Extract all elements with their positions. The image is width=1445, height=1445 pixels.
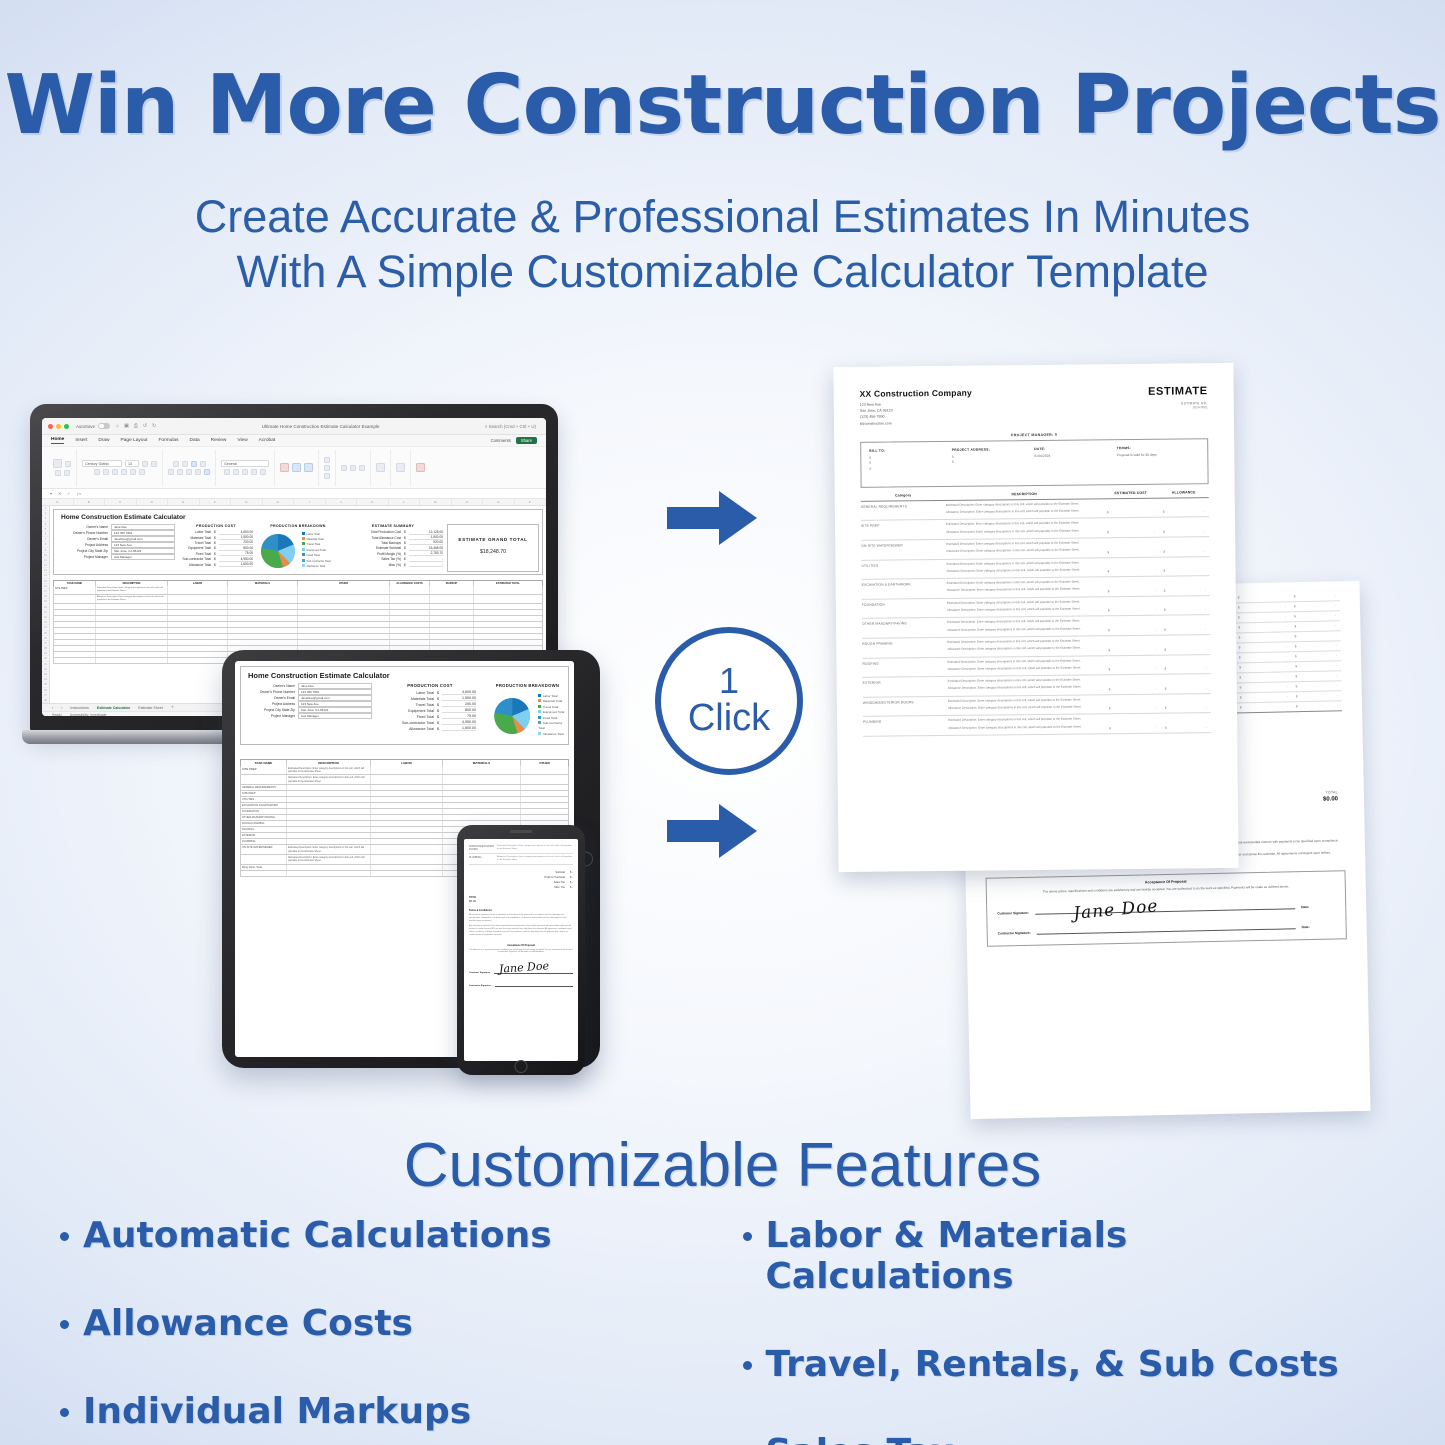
tab-review[interactable]: Review <box>211 438 227 443</box>
ribbon-group-acrobat[interactable] <box>411 450 430 486</box>
decrease-decimal-icon[interactable] <box>260 469 266 475</box>
allowance-cells[interactable] <box>390 586 430 594</box>
task-name-cell[interactable]: GENERAL REQUIREMENTS <box>241 785 287 790</box>
owner-field-input[interactable]: JaneDoe@gmail.com <box>111 536 175 542</box>
cost-symbol: $ <box>1295 654 1297 658</box>
estimated-description: Estimated Description: Enter category de… <box>947 579 1104 585</box>
production-cost-label: Travel Total <box>179 541 214 545</box>
task-name-cell[interactable]: Bring Parts, Tools <box>241 865 287 870</box>
phone-contractor-signature-line[interactable] <box>495 981 573 987</box>
owner-field-input[interactable]: San Jose, CA 95123 <box>298 707 372 713</box>
category-name: ROUGH FRAMING <box>862 640 947 655</box>
quick-access-toolbar[interactable]: ⌂ ▣ ⎙ ↺ ↻ <box>116 423 156 429</box>
markup-cells[interactable] <box>430 595 474 603</box>
align-middle-icon[interactable] <box>182 461 188 467</box>
cost-symbol: $ <box>1164 608 1166 612</box>
cost-dash: - <box>1285 614 1286 618</box>
row-headers[interactable]: 12 34 56 78 910 1112 1314 1516 1718 1920… <box>42 506 50 703</box>
underline-icon[interactable] <box>112 469 118 475</box>
accessibility-status[interactable]: Accessibility: Investigate <box>70 713 107 716</box>
minimize-icon[interactable] <box>56 424 61 429</box>
tablet-production-cost-panel: PRODUCTION COST Labor Total$4,600.00 Mat… <box>384 683 476 742</box>
category-name: EXTERIOR <box>863 679 948 694</box>
pie-legend: Labor Total Materials Total Travel Total… <box>302 532 331 570</box>
tab-formulas[interactable]: Formulas <box>158 438 178 443</box>
other-cells[interactable] <box>298 595 390 603</box>
table-row[interactable]: SITE PREP Estimated Description: Enter c… <box>240 766 569 776</box>
phone-misc-value: $ - <box>570 886 573 889</box>
grand-total-value: $18,248.70 <box>452 549 534 555</box>
summary-value[interactable]: - <box>409 557 443 562</box>
column-header[interactable]: M <box>420 499 452 505</box>
column-header[interactable]: C <box>105 499 137 505</box>
owner-info-table[interactable]: Owner's NameJane Doe Owner's Phone Numbe… <box>57 524 175 572</box>
owner-field-label: Owner's Email <box>57 537 111 541</box>
font-color-icon[interactable] <box>139 469 145 475</box>
owner-field-input[interactable]: Ava Manager <box>298 713 372 719</box>
column-header[interactable]: A <box>42 499 74 505</box>
other-cells[interactable] <box>298 586 390 594</box>
format-painter-icon[interactable] <box>64 470 70 476</box>
arrow-right-top-icon <box>665 487 759 549</box>
production-cost-value: 75.00 <box>219 551 253 556</box>
legend-item: Travel Total <box>543 705 558 709</box>
tab-page-layout[interactable]: Page Layout <box>121 438 148 443</box>
sheet-tab-instructions[interactable]: Instructions <box>70 706 88 710</box>
cost-symbol: $ <box>1163 569 1165 573</box>
column-header[interactable]: K <box>357 499 389 505</box>
owner-field-label: Project Manager <box>244 714 298 718</box>
summary-label: Sales Tax (%) <box>343 557 404 561</box>
owner-field-input[interactable]: 123 456 7891 <box>111 530 175 536</box>
company-address: 123 New Ave San Jose, CA 95123 (123) 456… <box>860 401 973 427</box>
align-center-icon[interactable] <box>177 469 183 475</box>
subheadline-line-2: With A Simple Customizable Calculator Te… <box>0 245 1445 300</box>
formula-bar[interactable]: ▾ ✕ ✓ ƒx <box>42 489 546 499</box>
column-header[interactable]: D <box>137 499 169 505</box>
italic-icon[interactable] <box>103 469 109 475</box>
task-name-cell[interactable] <box>241 775 287 784</box>
production-breakdown-title: PRODUCTION BREAKDOWN <box>490 683 565 688</box>
share-button[interactable]: Share <box>516 437 537 444</box>
cost-dash: - <box>1286 674 1287 678</box>
description-cell[interactable]: Estimated Description: Enter category de… <box>287 766 371 775</box>
cost-dash: - <box>1286 664 1287 668</box>
production-cost-value: 4,950.00 <box>219 557 253 562</box>
format-as-table-icon[interactable] <box>292 463 301 472</box>
find-select-icon[interactable] <box>359 465 365 471</box>
tablet-calculator-title: Home Construction Estimate Calculator <box>248 671 565 680</box>
paste-icon[interactable] <box>53 459 62 468</box>
customer-date-label: Date: <box>1301 904 1335 909</box>
estimate-summary-panel: ESTIMATE SUMMARY Total Production Cost$1… <box>343 524 443 572</box>
cost-symbol: $ <box>1294 614 1296 618</box>
ribbon-group-editing[interactable] <box>336 450 371 486</box>
cancel-entry-icon[interactable]: ✕ <box>58 491 61 496</box>
autosum-icon[interactable] <box>341 465 347 471</box>
estimated-total-cells[interactable] <box>474 595 542 603</box>
production-cost-label: Equipment Total <box>384 709 437 713</box>
category-name: EXCAVATION & EARTHWORK <box>862 581 947 596</box>
cost-symbol: $ <box>1109 726 1111 730</box>
summary-label: Misc (%) <box>343 563 404 567</box>
estimated-total-cells[interactable] <box>474 586 542 594</box>
task-name-cell[interactable]: PLUMBING <box>241 839 287 844</box>
cost-dash: - <box>1205 588 1206 592</box>
ribbon-group-number[interactable]: General <box>216 450 275 486</box>
column-header[interactable]: I <box>294 499 326 505</box>
date-label: DATE: <box>1034 446 1117 451</box>
production-cost-value: 1,500.00 <box>219 535 253 540</box>
ribbon-group-analyze[interactable] <box>391 450 411 486</box>
sheet-tab-estimate-calculator[interactable]: Estimate Calculator <box>97 706 131 710</box>
cost-symbol: $ <box>1108 569 1110 573</box>
phone-screen: WINDOWS/EXTERIOR DOORS Estimated Descrip… <box>464 839 578 1061</box>
allowance-description: Allowance Description: Enter category de… <box>948 665 1105 671</box>
owner-field-input[interactable]: 123 456 7891 <box>298 689 372 695</box>
ribbon-group-font[interactable]: Century Gothic 13 <box>77 450 163 486</box>
promo-canvas: Win More Construction Projects Create Ac… <box>0 0 1445 1445</box>
table-row[interactable]: SITE PREP Estimated Description: Enter c… <box>53 586 543 595</box>
font-name-select[interactable]: Century Gothic <box>82 460 122 467</box>
column-header[interactable]: F <box>200 499 232 505</box>
maximize-icon[interactable] <box>64 424 69 429</box>
cell-styles-icon[interactable] <box>304 463 313 472</box>
cost-dash: - <box>1287 704 1288 708</box>
cost-dash: - <box>1285 604 1286 608</box>
align-right-icon[interactable] <box>186 469 192 475</box>
production-cost-label: Materials Total <box>384 697 437 701</box>
cost-symbol: $ <box>1296 694 1298 698</box>
tablet-task-table-header: TASK NAME DESCRIPTION LABOR MATERIALS OT… <box>240 759 569 766</box>
feature-label: Allowance Costs <box>83 1303 413 1344</box>
description-cell[interactable]: Allowance Description: Enter category de… <box>287 775 371 784</box>
one-click-word: Click <box>688 699 770 739</box>
task-name-cell[interactable]: FOUNDATION <box>241 809 287 814</box>
cost-dash: - <box>1156 686 1157 690</box>
bill-to-label: BILL TO: <box>869 448 952 453</box>
column-header[interactable]: G <box>231 499 263 505</box>
date-column: DATE: 01/01/2024 <box>1034 446 1117 479</box>
ribbon-group-addins[interactable] <box>371 450 391 486</box>
contractor-signature-row[interactable]: Contractor Signature: Date: <box>998 920 1336 935</box>
phone-home-button[interactable] <box>515 1060 528 1073</box>
summary-label: Total Production Cost <box>343 530 404 534</box>
decrease-font-icon[interactable] <box>151 461 157 467</box>
confirm-entry-icon[interactable]: ✓ <box>67 491 70 496</box>
comments-button[interactable]: Comments <box>491 438 511 443</box>
summary-value[interactable]: - <box>409 562 443 567</box>
cost-dash: - <box>1154 569 1155 573</box>
cost-dash: - <box>1285 624 1286 628</box>
task-name-cell[interactable]: EXCAVATION & EARTHWORK <box>241 803 287 808</box>
table-row[interactable]: Allowance Description: Enter category de… <box>240 775 569 785</box>
row-header[interactable]: 38 <box>42 698 49 703</box>
other-cells[interactable] <box>521 775 568 784</box>
bold-icon[interactable] <box>94 469 100 475</box>
other-cells[interactable] <box>521 766 568 775</box>
category-rows: GENERAL REQUIREMENTS Estimated Descripti… <box>861 498 1211 737</box>
pie-legend: Labor Total Materials Total Travel Total… <box>538 694 565 737</box>
ribbon-group-paste[interactable] <box>48 450 77 486</box>
cost-symbol: $ <box>1164 628 1166 632</box>
currency-icon[interactable] <box>224 469 230 475</box>
tab-insert[interactable]: Insert <box>75 438 87 443</box>
list-item: Labor & Materials Calculations <box>743 1215 1386 1297</box>
cut-icon[interactable] <box>65 461 71 467</box>
labor-cells[interactable] <box>371 775 443 784</box>
autosave-toggle[interactable]: AutoSave <box>76 423 110 430</box>
column-header[interactable]: H <box>263 499 295 505</box>
production-cost-value: 1,500.00 <box>442 696 476 701</box>
summary-label: Total Markups <box>343 541 404 545</box>
summary-label: Profit Margin (%) <box>343 552 404 556</box>
number-format-select[interactable]: General <box>221 460 269 467</box>
production-cost-value: 800.00 <box>219 546 253 551</box>
description-cell[interactable]: Estimated Description: Enter category de… <box>287 845 371 854</box>
cost-dash: - <box>1336 633 1337 637</box>
tab-home[interactable]: Home <box>51 437 64 444</box>
excel-ribbon[interactable]: Century Gothic 13 <box>42 447 546 489</box>
legend-item: Allowance Total <box>543 732 564 736</box>
subheadline-line-1: Create Accurate & Professional Estimates… <box>0 190 1445 245</box>
phone-terms-p2: Any alteration or deviation from above s… <box>469 925 573 936</box>
phone-category-cell: WINDOWS/EXTERIOR DOORS <box>469 845 497 851</box>
phone-mockup: WINDOWS/EXTERIOR DOORS Estimated Descrip… <box>457 825 585 1075</box>
owner-field-label: Owner's Email <box>244 696 298 700</box>
tab-data[interactable]: Data <box>189 438 199 443</box>
project-manager-row: PROJECT MANAGER: 0 <box>860 431 1208 439</box>
delete-cells-icon[interactable] <box>324 465 330 471</box>
summary-label: Estimate Subtotal <box>343 546 404 550</box>
task-name-cell[interactable]: SITE PREP <box>241 766 287 775</box>
summary-value: 1,600.00 <box>409 535 443 540</box>
tab-acrobat[interactable]: Acrobat <box>259 438 276 443</box>
task-name-cell[interactable]: SITE PREP <box>241 791 287 796</box>
cost-symbol: $ <box>1165 726 1167 730</box>
description-cell[interactable]: Allowance Description: Enter category de… <box>287 855 371 864</box>
phone-subtotal-value: $ - <box>570 871 573 874</box>
save-icon[interactable]: ▣ <box>124 423 129 429</box>
owner-field-input[interactable]: JaneDoe@gmail.com <box>298 695 372 701</box>
task-name-cell[interactable] <box>54 595 96 603</box>
sheet-nav-prev-icon[interactable]: ‹ <box>52 706 53 710</box>
materials-cells[interactable] <box>443 775 521 784</box>
cost-symbol: $ <box>1108 609 1110 613</box>
undo-icon[interactable]: ↺ <box>143 423 147 429</box>
task-name-cell[interactable]: OTHER MASONRY/PAVING <box>241 815 287 820</box>
owner-field-input[interactable]: Jane Doe <box>111 524 175 530</box>
owner-field-input[interactable]: Jane Doe <box>298 683 372 689</box>
sheet-tab-estimate-sheet[interactable]: Estimate Sheet <box>138 706 162 710</box>
increase-decimal-icon[interactable] <box>251 469 257 475</box>
column-header[interactable]: E <box>168 499 200 505</box>
document-title: Ultimate Home Construction Estimate Calc… <box>156 424 485 429</box>
production-cost-value: 4,600.00 <box>219 530 253 535</box>
sheet-nav-next-icon[interactable]: › <box>61 706 62 710</box>
percent-icon[interactable] <box>233 469 239 475</box>
sort-filter-icon[interactable] <box>350 465 356 471</box>
cost-dash: - <box>1335 593 1336 597</box>
home-icon[interactable]: ⌂ <box>116 423 119 429</box>
cost-symbol: $ <box>1108 648 1110 652</box>
materials-cells[interactable] <box>228 586 298 594</box>
search-input[interactable]: ⌕ Search (Cmd + Ctrl + U) <box>485 424 536 429</box>
contractor-date-label: Date: <box>1302 924 1336 929</box>
cost-dash: - <box>1286 634 1287 638</box>
cost-dash: - <box>1335 603 1336 607</box>
orientation-icon[interactable] <box>200 461 206 467</box>
cost-dash: - <box>1286 644 1287 648</box>
cost-dash: - <box>1336 643 1337 647</box>
bullet-icon <box>60 1408 69 1417</box>
labor-cells[interactable] <box>168 586 228 594</box>
format-cells-icon[interactable] <box>324 473 330 479</box>
production-cost-label: Fixed Total <box>384 715 437 719</box>
cost-dash: - <box>1156 706 1157 710</box>
description-cell[interactable]: Estimated Description: Enter category de… <box>96 586 168 594</box>
ribbon-group-cells[interactable] <box>319 450 336 486</box>
bullet-icon <box>60 1232 69 1241</box>
estimated-description: Estimated Description: Enter category de… <box>946 521 1103 527</box>
category-name: FOUNDATION <box>862 601 947 616</box>
ribbon-group-alignment[interactable] <box>163 450 216 486</box>
task-name-cell[interactable]: ON-SITE WATER/SEWER <box>241 845 287 854</box>
column-header[interactable]: J <box>326 499 358 505</box>
analyze-data-icon[interactable] <box>396 463 405 472</box>
task-name-cell[interactable]: SITE PREP <box>54 586 96 594</box>
align-top-icon[interactable] <box>173 461 179 467</box>
task-name-cell[interactable]: UTILITIES <box>241 797 287 802</box>
calculator-title: Home Construction Estimate Calculator <box>61 514 539 521</box>
header-description: DESCRIPTION <box>946 491 1103 497</box>
markup-cells[interactable] <box>430 586 474 594</box>
labor-cells[interactable] <box>371 766 443 775</box>
page-headline: Win More Construction Projects <box>0 58 1445 153</box>
category-name: ON-SITE WATER/SEWER <box>861 542 946 557</box>
cost-dash: - <box>1206 706 1207 710</box>
phone-category-cell: PLUMBING <box>469 856 497 862</box>
estimate-no-value: 2024-0001 <box>1148 405 1208 410</box>
tab-view[interactable]: View <box>237 438 247 443</box>
column-header[interactable]: P <box>515 499 547 505</box>
cost-dash: - <box>1337 693 1338 697</box>
task-name-cell[interactable]: EXTERIOR <box>241 833 287 838</box>
project-address-label: PROJECT ADDRESS: <box>952 447 1035 452</box>
increase-font-icon[interactable] <box>142 461 148 467</box>
cost-dash: - <box>1204 510 1205 514</box>
column-header[interactable]: L <box>389 499 421 505</box>
owner-field-input[interactable]: Ava Manager <box>111 554 175 560</box>
terms-value: Proposal is valid for 30 days <box>1117 452 1200 458</box>
task-name-cell[interactable]: ROOFING <box>241 827 287 832</box>
tablet-calculator-panel: Home Construction Estimate Calculator Ow… <box>240 666 569 745</box>
list-item: Automatic Calculations <box>60 1215 723 1256</box>
legend-item: Equipment Total <box>307 549 326 552</box>
merge-cells-icon[interactable] <box>204 469 210 475</box>
customer-signature-label: Customer Signature: <box>997 910 1029 915</box>
tab-draw[interactable]: Draw <box>98 438 109 443</box>
ribbon-group-styles[interactable] <box>275 450 319 486</box>
cost-dash: - <box>1337 683 1338 687</box>
tablet-owner-info-table[interactable]: Owner's NameJane Doe Owner's Phone Numbe… <box>244 683 372 742</box>
phone-acceptance-title: Acceptance Of Proposal <box>469 944 573 947</box>
column-header[interactable]: N <box>452 499 484 505</box>
estimate-summary-title: ESTIMATE SUMMARY <box>343 524 443 528</box>
cost-symbol: $ <box>1240 685 1242 689</box>
close-icon[interactable] <box>48 424 53 429</box>
window-controls[interactable] <box>48 424 69 429</box>
table-row[interactable]: Allowance Description: Enter category de… <box>53 595 543 604</box>
wrap-text-icon[interactable] <box>195 469 201 475</box>
cost-dash: - <box>1335 613 1336 617</box>
owner-field-label: Project City State Zip <box>57 549 111 553</box>
copy-icon[interactable] <box>55 470 61 476</box>
column-header[interactable]: B <box>74 499 106 505</box>
customer-signature-handwriting: Jane Doe <box>1073 896 1160 924</box>
add-ins-icon[interactable] <box>376 463 385 472</box>
customer-signature-row[interactable]: Customer Signature: Date: <box>997 900 1335 915</box>
allowance-cells[interactable] <box>390 595 430 603</box>
estimated-description: Estimated Description: Enter category de… <box>946 540 1103 546</box>
labor-cells[interactable] <box>168 595 228 603</box>
conditional-formatting-icon[interactable] <box>280 463 289 472</box>
owner-field-input[interactable]: San Jose, CA 95123 <box>111 548 175 554</box>
materials-cells[interactable] <box>443 766 521 775</box>
cost-symbol: $ <box>1296 684 1298 688</box>
task-name-cell[interactable]: ROUGH FRAMING <box>241 821 287 826</box>
borders-icon[interactable] <box>121 469 127 475</box>
column-headers[interactable]: AB CD EF GH IJ KL MN OP <box>42 499 546 506</box>
legend-item: Travel Total <box>307 543 321 546</box>
cost-dash: - <box>1154 510 1155 514</box>
cost-symbol: $ <box>1295 674 1297 678</box>
category-name: GENERAL REQUIREMENTS <box>861 503 946 518</box>
summary-value[interactable]: 2,783.70 <box>409 551 443 556</box>
owner-field-input[interactable]: 123 New Ave <box>111 542 175 548</box>
toggle-switch-icon[interactable] <box>98 423 110 430</box>
cost-symbol: $ <box>1239 675 1241 679</box>
font-size-select[interactable]: 13 <box>125 460 139 467</box>
cost-symbol: $ <box>1295 644 1297 648</box>
fill-color-icon[interactable] <box>130 469 136 475</box>
name-box[interactable]: ▾ <box>50 491 52 496</box>
print-icon[interactable]: ⎙ <box>134 423 138 429</box>
materials-cells[interactable] <box>228 595 298 603</box>
comma-style-icon[interactable] <box>242 469 248 475</box>
legend-item: Equipment Total <box>543 710 564 714</box>
add-sheet-icon[interactable]: ＋ <box>171 705 175 710</box>
excel-ribbon-tabs[interactable]: Home Insert Draw Page Layout Formulas Da… <box>42 435 546 447</box>
column-header[interactable]: O <box>483 499 515 505</box>
cost-symbol: $ <box>1164 588 1166 592</box>
list-item: Individual Markups <box>60 1391 723 1432</box>
cost-dash: - <box>1286 654 1287 658</box>
cost-dash: - <box>1154 530 1155 534</box>
allowance-description: Allowance Description: Enter category de… <box>947 587 1104 593</box>
insert-function-icon[interactable]: ƒx <box>77 491 81 496</box>
summary-value: 12,125.00 <box>409 530 443 535</box>
tablet-production-breakdown-panel: PRODUCTION BREAKDOWN <box>490 683 565 742</box>
description-cell[interactable]: Allowance Description: Enter category de… <box>96 595 168 603</box>
insert-cells-icon[interactable] <box>324 457 330 463</box>
create-pdf-icon[interactable] <box>416 463 425 472</box>
owner-field-input[interactable]: 123 New Ave <box>298 701 372 707</box>
cost-symbol: $ <box>1165 686 1167 690</box>
align-left-icon[interactable] <box>168 469 174 475</box>
phone-terms-p1: All material is guaranteed to be as spec… <box>469 914 573 922</box>
align-bottom-icon[interactable] <box>191 461 197 467</box>
